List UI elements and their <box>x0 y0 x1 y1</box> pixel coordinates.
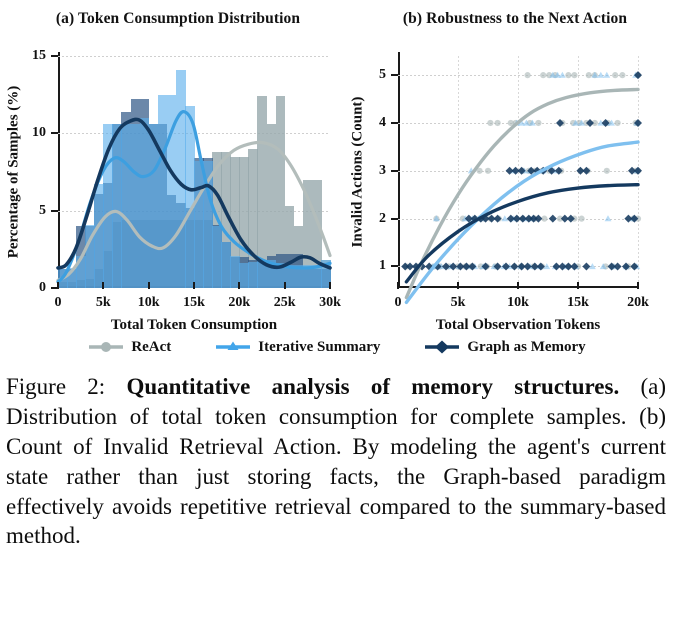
y-tick <box>391 218 398 220</box>
y-tick <box>51 55 58 57</box>
legend-item-iterative-summary: Iterative Summary <box>215 339 380 356</box>
x-tick-label: 30k <box>319 295 341 311</box>
graph-as-memory-diamond-marker-icon <box>424 339 460 355</box>
panel-a-title: (a) Token Consumption Distribution <box>0 10 356 28</box>
panel-b-robustness: (b) Robustness to the Next Action Invali… <box>356 0 674 330</box>
x-tick <box>457 282 459 289</box>
x-tick-label: 5k <box>96 295 111 311</box>
scatter-point <box>634 71 642 79</box>
scatter-point <box>615 120 621 126</box>
panel-a-y-axis-title: Percentage of Samples (%) <box>6 86 23 259</box>
scatter-point <box>540 72 546 78</box>
panel-b-title: (b) Robustness to the Next Action <box>356 10 674 28</box>
scatter-point <box>604 168 610 174</box>
x-tick <box>284 282 286 289</box>
y-tick <box>51 287 58 289</box>
chart-panels: (a) Token Consumption Distribution Perce… <box>0 0 674 330</box>
y-tick <box>51 132 58 134</box>
panel-a-kde-curves <box>58 56 330 288</box>
x-tick-label: 10k <box>138 295 160 311</box>
x-tick-label: 10k <box>507 295 529 311</box>
scatter-point <box>619 72 625 78</box>
y-tick-label: 3 <box>379 163 386 179</box>
kde-curve <box>58 112 330 282</box>
panel-b-scatter-and-curves <box>398 56 638 288</box>
scatter-point <box>582 167 590 175</box>
scatter-point <box>605 215 612 221</box>
panel-a-plot-area: Percentage of Samples (%) Total Token Co… <box>58 56 330 288</box>
scatter-point <box>589 263 596 269</box>
y-tick-label: 0 <box>39 280 46 296</box>
y-tick <box>391 122 398 124</box>
legend-label-iterative-summary: Iterative Summary <box>258 339 380 356</box>
panel-a-token-consumption: (a) Token Consumption Distribution Perce… <box>0 0 356 330</box>
y-tick <box>391 170 398 172</box>
scatter-point <box>525 72 531 78</box>
y-tick-label: 2 <box>379 211 386 227</box>
caption-body: (a) Distribution of total token consumpt… <box>6 374 666 548</box>
x-tick <box>148 282 150 289</box>
y-tick-label: 1 <box>379 258 386 274</box>
legend-label-react: ReAct <box>131 339 171 356</box>
scatter-point <box>586 72 592 78</box>
caption-figure-label: Figure 2: <box>6 374 105 399</box>
x-tick-label: 20k <box>228 295 250 311</box>
kde-curve <box>58 142 330 280</box>
x-tick-label: 20k <box>627 295 649 311</box>
x-tick-label: 15k <box>183 295 205 311</box>
caption-bold-lead: Quantitative analysis of memory structur… <box>126 374 619 399</box>
scatter-point <box>494 215 502 223</box>
y-tick <box>391 265 398 267</box>
scatter-point <box>502 262 510 270</box>
y-tick-label: 15 <box>32 48 46 64</box>
scatter-point <box>537 262 545 270</box>
scatter-point <box>582 262 590 270</box>
scatter-point <box>501 215 508 221</box>
panel-b-y-axis-title: Invalid Actions (Count) <box>350 97 367 248</box>
x-tick <box>397 282 399 289</box>
x-tick-label: 25k <box>274 295 296 311</box>
y-tick-label: 5 <box>39 203 46 219</box>
figure-legend: ReAct Iterative Summary Graph as Memory <box>0 330 674 364</box>
y-tick-label: 10 <box>32 125 46 141</box>
kde-curve <box>58 119 330 268</box>
y-tick-label: 4 <box>379 115 386 131</box>
scatter-point <box>579 216 585 222</box>
scatter-point <box>510 262 518 270</box>
scatter-point <box>612 72 618 78</box>
panel-b-plot-area: Invalid Actions (Count) Total Observatio… <box>398 56 638 288</box>
x-tick <box>577 282 579 289</box>
x-tick <box>329 282 331 289</box>
react-circle-marker-icon <box>88 339 124 355</box>
x-tick <box>102 282 104 289</box>
figure-caption: Figure 2: Quantitative analysis of memor… <box>6 372 666 551</box>
x-tick <box>637 282 639 289</box>
y-tick <box>391 74 398 76</box>
scatter-point <box>487 120 493 126</box>
iterative-summary-triangle-marker-icon <box>215 339 251 355</box>
x-tick-label: 15k <box>567 295 589 311</box>
scatter-point <box>518 167 526 175</box>
scatter-point <box>449 262 457 270</box>
legend-label-graph-as-memory: Graph as Memory <box>467 339 585 356</box>
scatter-point <box>565 72 571 78</box>
scatter-point <box>571 72 577 78</box>
scatter-point <box>614 262 622 270</box>
figure-container: (a) Token Consumption Distribution Perce… <box>0 0 674 628</box>
y-tick-label: 5 <box>379 67 386 83</box>
x-tick-label: 0 <box>55 295 62 311</box>
scatter-point <box>482 262 490 270</box>
scatter-point <box>495 120 501 126</box>
scatter-point <box>524 262 532 270</box>
x-tick <box>238 282 240 289</box>
x-tick <box>517 282 519 289</box>
scatter-point <box>535 120 541 126</box>
scatter-point <box>468 262 476 270</box>
legend-item-graph-as-memory: Graph as Memory <box>424 339 585 356</box>
x-tick <box>193 282 195 289</box>
scatter-point <box>630 262 638 270</box>
scatter-point <box>549 215 557 223</box>
scatter-point <box>559 72 566 78</box>
x-tick-label: 0 <box>395 295 402 311</box>
legend-item-react: ReAct <box>88 339 171 356</box>
y-tick <box>51 210 58 212</box>
scatter-point <box>597 72 604 78</box>
scatter-point <box>603 72 610 78</box>
x-tick-label: 5k <box>451 295 466 311</box>
scatter-point <box>485 168 491 174</box>
